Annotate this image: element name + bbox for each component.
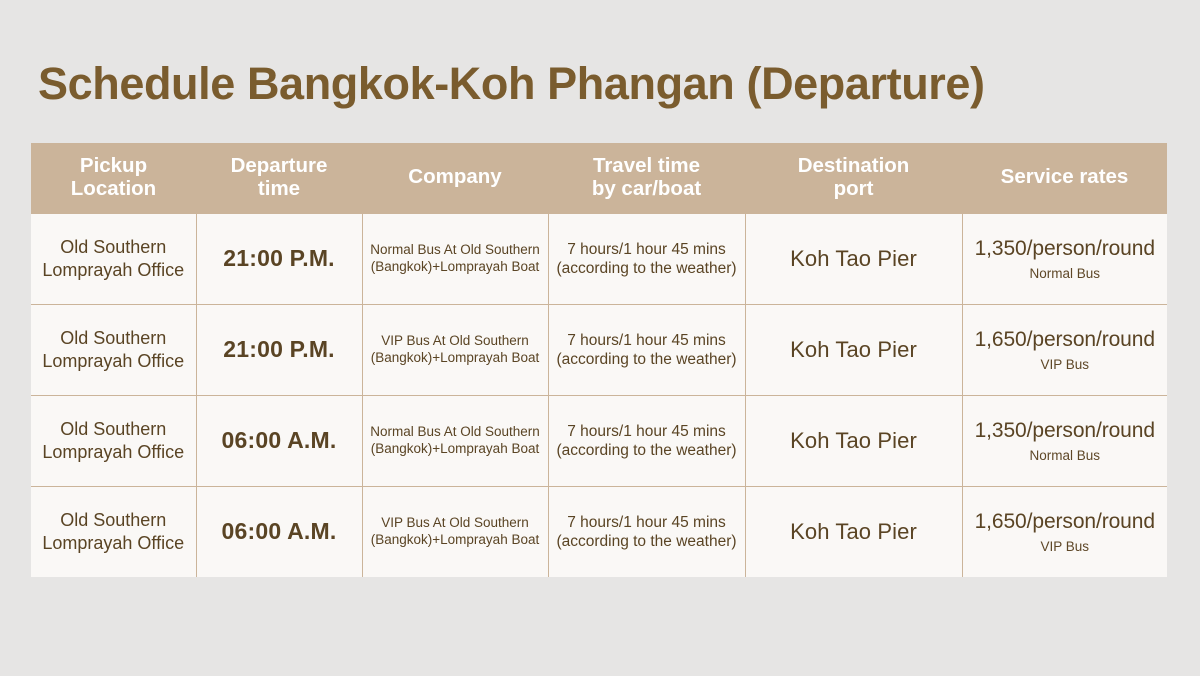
travel-time-line2: (according to the weather) — [554, 441, 740, 460]
company-line2: (Bangkok)+Lomprayah Boat — [368, 441, 543, 458]
cell-destination-port: Koh Tao Pier — [745, 214, 962, 305]
column-header-departure-time-line2: time — [200, 178, 358, 201]
column-header-service-rates: Service rates — [962, 143, 1167, 214]
service-rate-amount: 1,350/person/round — [968, 237, 1163, 261]
service-rate-class: VIP Bus — [968, 357, 1163, 372]
cell-destination-port: Koh Tao Pier — [745, 304, 962, 395]
service-rate-class: Normal Bus — [968, 266, 1163, 281]
column-header-pickup-location: Pickup Location — [31, 143, 196, 214]
column-header-travel-time-line1: Travel time — [552, 155, 741, 178]
cell-company: VIP Bus At Old Southern (Bangkok)+Lompra… — [362, 304, 548, 395]
cell-pickup-location: Old Southern Lomprayah Office — [31, 304, 196, 395]
column-header-pickup-location-line2: Location — [35, 178, 192, 201]
cell-departure-time: 21:00 P.M. — [196, 214, 362, 305]
cell-travel-time: 7 hours/1 hour 45 mins (according to the… — [548, 486, 745, 577]
table-row: Old Southern Lomprayah Office 06:00 A.M.… — [31, 395, 1167, 486]
pickup-location-line1: Old Southern — [36, 327, 191, 350]
table-row: Old Southern Lomprayah Office 06:00 A.M.… — [31, 486, 1167, 577]
table-row: Old Southern Lomprayah Office 21:00 P.M.… — [31, 214, 1167, 305]
page-title: Schedule Bangkok-Koh Phangan (Departure) — [38, 58, 985, 110]
pickup-location-line1: Old Southern — [36, 236, 191, 259]
cell-destination-port: Koh Tao Pier — [745, 395, 962, 486]
travel-time-line2: (according to the weather) — [554, 532, 740, 551]
travel-time-line2: (according to the weather) — [554, 259, 740, 278]
column-header-departure-time-line1: Departure — [200, 155, 358, 178]
cell-travel-time: 7 hours/1 hour 45 mins (according to the… — [548, 395, 745, 486]
table-row: Old Southern Lomprayah Office 21:00 P.M.… — [31, 304, 1167, 395]
column-header-travel-time: Travel time by car/boat — [548, 143, 745, 214]
service-rate-amount: 1,650/person/round — [968, 510, 1163, 534]
travel-time-line1: 7 hours/1 hour 45 mins — [554, 513, 740, 532]
cell-company: Normal Bus At Old Southern (Bangkok)+Lom… — [362, 214, 548, 305]
cell-service-rates: 1,650/person/round VIP Bus — [962, 304, 1167, 395]
company-line1: VIP Bus At Old Southern — [368, 515, 543, 532]
company-line2: (Bangkok)+Lomprayah Boat — [368, 350, 543, 367]
pickup-location-line2: Lomprayah Office — [36, 532, 191, 555]
cell-pickup-location: Old Southern Lomprayah Office — [31, 214, 196, 305]
service-rate-class: VIP Bus — [968, 539, 1163, 554]
travel-time-line1: 7 hours/1 hour 45 mins — [554, 240, 740, 259]
cell-departure-time: 06:00 A.M. — [196, 486, 362, 577]
company-line2: (Bangkok)+Lomprayah Boat — [368, 532, 543, 549]
schedule-table: Pickup Location Departure time Company T… — [31, 143, 1167, 577]
table-body: Old Southern Lomprayah Office 21:00 P.M.… — [31, 214, 1167, 577]
header-row: Pickup Location Departure time Company T… — [31, 143, 1167, 214]
travel-time-line1: 7 hours/1 hour 45 mins — [554, 331, 740, 350]
column-header-service-rates-line1: Service rates — [966, 166, 1163, 189]
service-rate-class: Normal Bus — [968, 448, 1163, 463]
cell-service-rates: 1,350/person/round Normal Bus — [962, 395, 1167, 486]
travel-time-line1: 7 hours/1 hour 45 mins — [554, 422, 740, 441]
cell-departure-time: 21:00 P.M. — [196, 304, 362, 395]
cell-company: Normal Bus At Old Southern (Bangkok)+Lom… — [362, 395, 548, 486]
service-rate-amount: 1,350/person/round — [968, 419, 1163, 443]
cell-travel-time: 7 hours/1 hour 45 mins (according to the… — [548, 304, 745, 395]
column-header-destination-port-line1: Destination — [749, 155, 958, 178]
cell-pickup-location: Old Southern Lomprayah Office — [31, 486, 196, 577]
company-line2: (Bangkok)+Lomprayah Boat — [368, 259, 543, 276]
pickup-location-line2: Lomprayah Office — [36, 350, 191, 373]
cell-service-rates: 1,650/person/round VIP Bus — [962, 486, 1167, 577]
company-line1: Normal Bus At Old Southern — [368, 424, 543, 441]
pickup-location-line2: Lomprayah Office — [36, 441, 191, 464]
cell-departure-time: 06:00 A.M. — [196, 395, 362, 486]
column-header-departure-time: Departure time — [196, 143, 362, 214]
table-header: Pickup Location Departure time Company T… — [31, 143, 1167, 214]
pickup-location-line1: Old Southern — [36, 509, 191, 532]
pickup-location-line1: Old Southern — [36, 418, 191, 441]
pickup-location-line2: Lomprayah Office — [36, 259, 191, 282]
column-header-company: Company — [362, 143, 548, 214]
cell-destination-port: Koh Tao Pier — [745, 486, 962, 577]
service-rate-amount: 1,650/person/round — [968, 328, 1163, 352]
column-header-destination-port-line2: port — [749, 178, 958, 201]
schedule-page: Schedule Bangkok-Koh Phangan (Departure)… — [0, 0, 1200, 676]
company-line1: VIP Bus At Old Southern — [368, 333, 543, 350]
column-header-travel-time-line2: by car/boat — [552, 178, 741, 201]
column-header-pickup-location-line1: Pickup — [35, 155, 192, 178]
cell-company: VIP Bus At Old Southern (Bangkok)+Lompra… — [362, 486, 548, 577]
company-line1: Normal Bus At Old Southern — [368, 242, 543, 259]
cell-travel-time: 7 hours/1 hour 45 mins (according to the… — [548, 214, 745, 305]
cell-pickup-location: Old Southern Lomprayah Office — [31, 395, 196, 486]
travel-time-line2: (according to the weather) — [554, 350, 740, 369]
column-header-company-line1: Company — [366, 166, 544, 189]
column-header-destination-port: Destination port — [745, 143, 962, 214]
cell-service-rates: 1,350/person/round Normal Bus — [962, 214, 1167, 305]
